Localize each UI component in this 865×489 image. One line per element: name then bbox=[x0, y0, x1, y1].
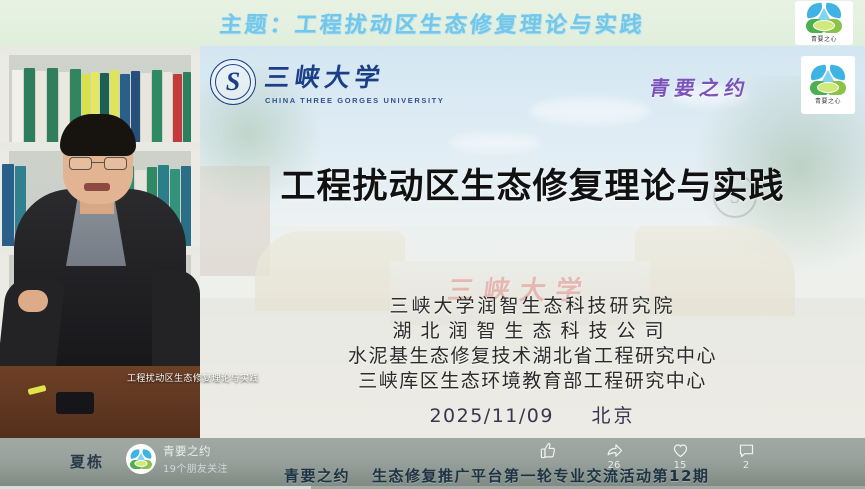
scrolling-announcement: 青要之约生态修复推广平台第一轮专业交流活动第12期 bbox=[284, 465, 724, 487]
slide-calligraphy-title: 青要之约 bbox=[647, 72, 752, 101]
marquee-prefix: 青要之约 bbox=[284, 467, 350, 485]
slide-date: 2025/11/09 bbox=[429, 405, 554, 427]
top-banner: 主题：工程扰动区生态修复理论与实践 青要之心 bbox=[0, 0, 865, 46]
university-seal-icon bbox=[210, 59, 256, 105]
organization-line: 湖北润智生态科技公司 bbox=[200, 319, 865, 344]
channel-logo-icon bbox=[130, 450, 152, 469]
university-name-cn: 三峡大学 bbox=[262, 58, 447, 94]
organization-line: 三峡大学润智生态科技研究院 bbox=[200, 294, 865, 319]
bottom-bar: 夏栋 青要之约 19个朋友关注 bbox=[0, 438, 865, 489]
like-button[interactable] bbox=[535, 442, 561, 460]
organization-list: 三峡大学润智生态科技研究院 湖北润智生态科技公司 水泥基生态修复技术湖北省工程研… bbox=[200, 294, 865, 394]
banner-logo: 青要之心 bbox=[795, 1, 853, 45]
mountain-leaf-logo-icon bbox=[810, 65, 846, 95]
channel-followers: 19个朋友关注 bbox=[163, 460, 228, 475]
channel-info[interactable]: 青要之约 19个朋友关注 bbox=[126, 443, 228, 475]
mountain-leaf-logo-icon bbox=[806, 3, 842, 33]
channel-name: 青要之约 bbox=[163, 443, 228, 459]
slide-corner-logo: 青要之心 bbox=[801, 56, 855, 114]
slide-logo-caption: 青要之心 bbox=[815, 96, 841, 105]
glasses-icon bbox=[69, 157, 127, 170]
university-logo: 三峡大学 CHINA THREE GORGES UNIVERSITY bbox=[210, 58, 444, 105]
comment-icon bbox=[738, 442, 755, 459]
channel-avatar[interactable] bbox=[126, 444, 156, 474]
thumbs-up-icon bbox=[540, 442, 557, 459]
university-name-en: CHINA THREE GORGES UNIVERSITY bbox=[265, 96, 444, 105]
video-caption: 工程扰动区生态修复理论与实践 bbox=[127, 371, 259, 384]
banner-logo-caption: 青要之心 bbox=[811, 34, 837, 43]
phone-on-desk bbox=[56, 392, 94, 414]
share-icon bbox=[606, 442, 623, 459]
comment-button[interactable]: 2 bbox=[733, 442, 759, 471]
livestream-screen: 主题：工程扰动区生态修复理论与实践 青要之心 bbox=[0, 0, 865, 489]
presentation-slide: 三峡大学 S 三峡大学 CHINA THREE GORGES UNIVERSIT… bbox=[200, 46, 865, 438]
slide-main-title: 工程扰动区生态修复理论与实践 bbox=[200, 158, 865, 209]
banner-title: 主题：工程扰动区生态修复理论与实践 bbox=[218, 7, 646, 39]
comment-count: 2 bbox=[743, 460, 749, 471]
heart-icon bbox=[672, 442, 689, 459]
speaker-name: 夏栋 bbox=[70, 451, 104, 472]
slide-date-location: 2025/11/09 北京 bbox=[200, 401, 865, 428]
organization-line: 三峡库区生态环境教育部工程研究中心 bbox=[200, 369, 865, 394]
speaker-figure bbox=[0, 124, 200, 374]
slide-city: 北京 bbox=[592, 405, 636, 427]
marquee-body: 生态修复推广平台第一轮专业交流活动第12期 bbox=[372, 467, 709, 485]
organization-line: 水泥基生态修复技术湖北省工程研究中心 bbox=[200, 344, 865, 369]
